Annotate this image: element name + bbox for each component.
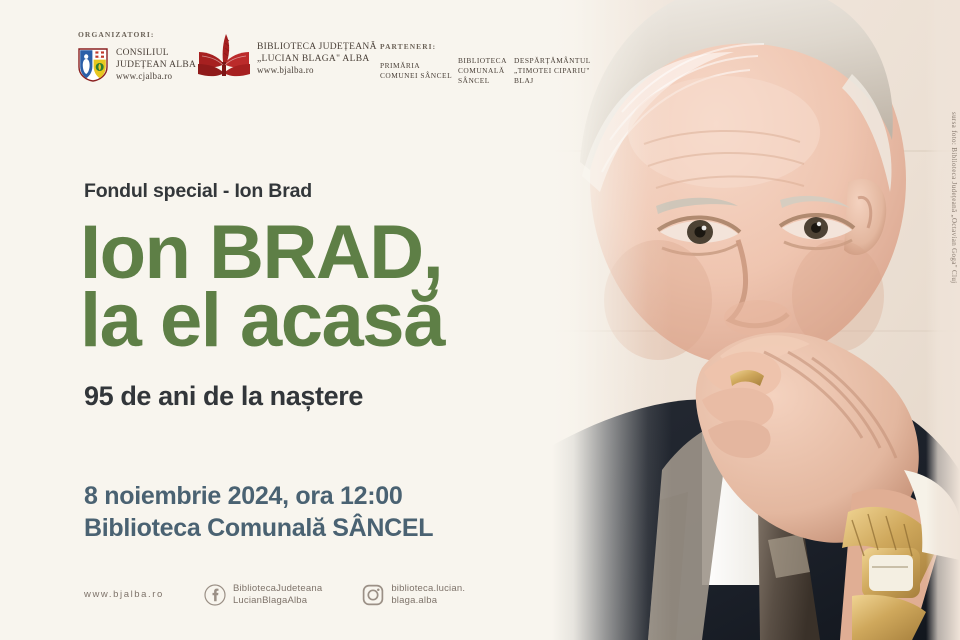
photo-credit: sursa foto: Biblioteca Județeană „Octavi… — [950, 112, 958, 283]
title-line-2: la el acasă — [80, 286, 444, 356]
organizers-block: ORGANIZATORI: — [78, 30, 196, 84]
county-council-line1: CONSILIUL — [116, 48, 169, 58]
event-datetime: 8 noiembrie 2024, ora 12:00 — [84, 482, 402, 510]
partner-item-2: BIBLIOTECA COMUNALĂ SÂNCEL — [458, 42, 514, 86]
page-subtitle: 95 de ani de la naștere — [84, 381, 363, 412]
library-url[interactable]: www.bjalba.ro — [257, 65, 314, 75]
instagram-line2: blaga.alba — [391, 595, 465, 607]
alba-county-crest-icon — [78, 48, 108, 82]
library-book-quill-logo-icon — [196, 32, 252, 82]
partner-2-line1: BIBLIOTECA — [458, 56, 507, 65]
partners-block: PARTENERI: PRIMĂRIA COMUNEI SÂNCEL BIBLI… — [380, 42, 609, 86]
partner-3-line3: BLAJ — [514, 76, 534, 85]
county-council-text: CONSILIUL JUDEȚEAN ALBA www.cjalba.ro — [116, 48, 196, 84]
organizer-county-council: CONSILIUL JUDEȚEAN ALBA www.cjalba.ro — [78, 48, 196, 84]
footer: www.bjalba.ro BibliotecaJudeteana Lucian… — [84, 583, 465, 606]
county-council-line2: JUDEȚEAN ALBA — [116, 60, 196, 70]
partner-3-line2: „TIMOTEI CIPARIU" — [514, 66, 590, 75]
header: ORGANIZATORI: — [0, 0, 640, 110]
partner-item-1: PARTENERI: PRIMĂRIA COMUNEI SÂNCEL — [380, 42, 458, 86]
county-council-url[interactable]: www.cjalba.ro — [116, 71, 172, 81]
collection-eyebrow: Fondul special - Ion Brad — [84, 180, 312, 203]
footer-instagram[interactable]: biblioteca.lucian. blaga.alba — [362, 583, 465, 606]
event-venue: Biblioteca Comunală SÂNCEL — [84, 512, 433, 544]
footer-website[interactable]: www.bjalba.ro — [84, 589, 164, 600]
facebook-icon[interactable] — [204, 584, 226, 606]
partners-label: PARTENERI: — [380, 42, 458, 52]
footer-facebook[interactable]: BibliotecaJudeteana LucianBlagaAlba — [204, 583, 322, 606]
instagram-handle: biblioteca.lucian. blaga.alba — [391, 583, 465, 606]
page-title: Ion BRAD, la el acasă — [80, 218, 444, 356]
library-line2: „LUCIAN BLAGA" ALBA — [257, 54, 370, 64]
library-line1: BIBLIOTECA JUDEȚEANĂ — [257, 42, 377, 52]
facebook-line2: LucianBlagaAlba — [233, 595, 322, 607]
partner-3-line1: DESPĂRȚĂMÂNTUL — [514, 56, 591, 65]
facebook-handle: BibliotecaJudeteana LucianBlagaAlba — [233, 583, 322, 606]
organizer-library: BIBLIOTECA JUDEȚEANĂ „LUCIAN BLAGA" ALBA… — [196, 32, 377, 82]
partner-2-line2: COMUNALĂ — [458, 66, 505, 75]
event-details: 8 noiembrie 2024, ora 12:00 Biblioteca C… — [84, 480, 433, 544]
organizers-label: ORGANIZATORI: — [78, 30, 196, 39]
library-text: BIBLIOTECA JUDEȚEANĂ „LUCIAN BLAGA" ALBA… — [257, 42, 377, 78]
facebook-line1: BibliotecaJudeteana — [233, 583, 322, 595]
poster-canvas: sursa foto: Biblioteca Județeană „Octavi… — [0, 0, 960, 640]
partner-1-line1: PRIMĂRIA — [380, 61, 420, 70]
partner-1-line2: COMUNEI SÂNCEL — [380, 71, 452, 80]
instagram-line1: biblioteca.lucian. — [391, 583, 465, 595]
instagram-icon[interactable] — [362, 584, 384, 606]
partner-item-3: DESPĂRȚĂMÂNTUL „TIMOTEI CIPARIU" BLAJ — [514, 42, 609, 86]
partner-2-line3: SÂNCEL — [458, 76, 490, 85]
